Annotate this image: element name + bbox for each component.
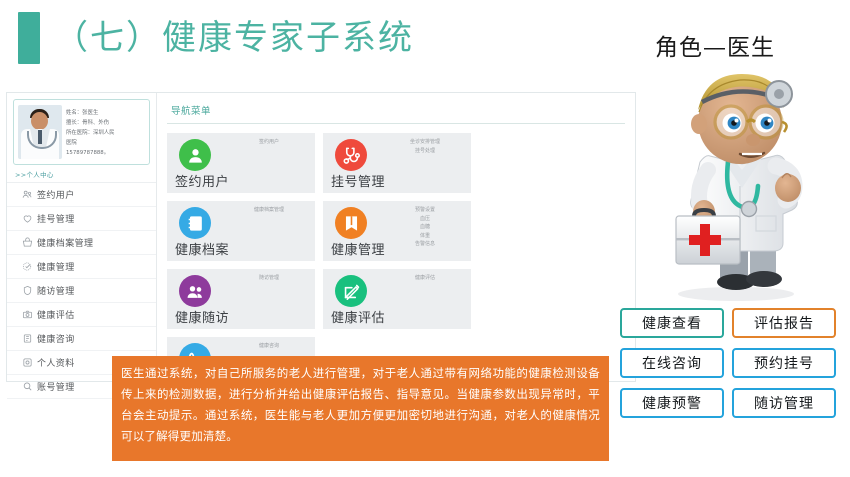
action-button-6[interactable]: 随访管理 — [732, 388, 836, 418]
profile-info: 姓名：张医生 擅长：骨科、外伤 所在医院：深圳人民 医院 15789787888… — [62, 105, 145, 159]
title-accent-bar — [18, 12, 40, 64]
app-card-sublabel: 预警设置 — [387, 206, 463, 215]
avatar — [18, 105, 62, 159]
action-button-label: 健康预警 — [642, 393, 702, 413]
profile-card: 姓名：张医生 擅长：骨科、外伤 所在医院：深圳人民 医院 15789787888… — [13, 99, 150, 165]
sidebar-item-1[interactable]: 签约用户 — [7, 183, 156, 207]
sidebar-item-6[interactable]: 健康评估 — [7, 303, 156, 327]
app-card-title: 健康随访 — [175, 307, 229, 326]
app-card-title: 挂号管理 — [331, 171, 385, 190]
people-icon — [17, 189, 37, 200]
description-text: 医生通过系统，对自己所服务的老人进行管理，对于老人通过带有网络功能的健康检测设备… — [112, 356, 609, 461]
page-title: （七）健康专家子系统 — [18, 12, 414, 64]
action-button-label: 随访管理 — [754, 393, 814, 413]
sidebar-item-label: 健康咨询 — [37, 332, 75, 345]
sidebar-item-label: 健康管理 — [37, 260, 75, 273]
clock-icon — [17, 357, 37, 368]
app-card-6[interactable]: 健康评估健康评估 — [323, 269, 471, 329]
app-card-title: 健康评估 — [331, 307, 385, 326]
app-card-sublabel: 体重 — [387, 232, 463, 241]
app-card-sublabel: 告警信息 — [387, 240, 463, 249]
app-card-3[interactable]: 健康档案管理健康档案 — [167, 201, 315, 261]
sidebar-item-label: 健康评估 — [37, 308, 75, 321]
action-button-label: 在线咨询 — [642, 353, 702, 373]
app-card-sublabels: 健康咨询 — [231, 342, 307, 351]
book-icon — [335, 207, 367, 239]
profile-hospital-2: 医院 — [66, 138, 145, 148]
check-circle-icon — [17, 261, 37, 272]
sidebar: 姓名：张医生 擅长：骨科、外伤 所在医院：深圳人民 医院 15789787888… — [7, 93, 157, 381]
sidebar-item-label: 个人资料 — [37, 356, 75, 369]
sidebar-item-label: 随访管理 — [37, 284, 75, 297]
profile-specialty: 擅长：骨科、外伤 — [66, 118, 145, 128]
sidebar-item-7[interactable]: 健康咨询 — [7, 327, 156, 351]
sidebar-item-4[interactable]: 健康管理 — [7, 255, 156, 279]
basket-icon — [17, 237, 37, 248]
sidebar-item-label: 挂号管理 — [37, 212, 75, 225]
action-button-5[interactable]: 健康预警 — [620, 388, 724, 418]
sidebar-item-3[interactable]: 健康档案管理 — [7, 231, 156, 255]
sidebar-item-2[interactable]: 挂号管理 — [7, 207, 156, 231]
app-card-sublabel: 健康档案管理 — [231, 206, 307, 215]
cartoon-doctor-illustration — [636, 66, 848, 306]
camera-icon — [17, 309, 37, 320]
search-icon — [17, 381, 37, 392]
app-card-1[interactable]: 签约用户签约用户 — [167, 133, 315, 193]
app-card-sublabel: 坐诊安排管理 — [387, 138, 463, 147]
app-card-sublabel: 健康评估 — [387, 274, 463, 283]
action-button-4[interactable]: 预约挂号 — [732, 348, 836, 378]
sidebar-item-5[interactable]: 随访管理 — [7, 279, 156, 303]
app-card-sublabel: 血压 — [387, 215, 463, 224]
personal-center-link[interactable]: >>个人中心 — [7, 165, 156, 183]
sidebar-item-label: 签约用户 — [37, 188, 75, 201]
app-card-5[interactable]: 随访管理健康随访 — [167, 269, 315, 329]
action-button-1[interactable]: 健康查看 — [620, 308, 724, 338]
app-card-sublabel: 挂号处理 — [387, 147, 463, 156]
lock-icon — [17, 333, 37, 344]
heart-icon — [17, 213, 37, 224]
main-panel: 导航菜单 签约用户签约用户坐诊安排管理挂号处理挂号管理健康档案管理健康档案预警设… — [157, 93, 635, 381]
group-icon — [179, 275, 211, 307]
profile-hospital: 所在医院：深圳人民 — [66, 128, 145, 138]
app-card-title: 健康管理 — [331, 239, 385, 258]
user-icon — [179, 139, 211, 171]
app-card-sublabels: 预警设置血压血糖体重告警信息 — [387, 206, 463, 249]
app-card-4[interactable]: 预警设置血压血糖体重告警信息健康管理 — [323, 201, 471, 261]
action-button-label: 健康查看 — [642, 313, 702, 333]
sidebar-item-label: 健康档案管理 — [37, 236, 93, 249]
app-card-sublabels: 健康评估 — [387, 274, 463, 283]
title-text: （七）健康专家子系统 — [54, 21, 414, 55]
app-card-title: 签约用户 — [175, 171, 229, 190]
app-card-sublabel: 健康咨询 — [231, 342, 307, 351]
action-button-label: 评估报告 — [754, 313, 814, 333]
role-label: 角色—医生 — [655, 28, 775, 62]
profile-name: 姓名：张医生 — [66, 108, 145, 118]
app-card-sublabels: 坐诊安排管理挂号处理 — [387, 138, 463, 155]
app-card-sublabel: 签约用户 — [231, 138, 307, 147]
sidebar-item-label: 账号管理 — [37, 380, 75, 393]
action-button-3[interactable]: 在线咨询 — [620, 348, 724, 378]
app-window: 姓名：张医生 擅长：骨科、外伤 所在医院：深圳人民 医院 15789787888… — [6, 92, 636, 382]
nav-menu-title: 导航菜单 — [167, 101, 625, 124]
app-card-sublabel: 血糖 — [387, 223, 463, 232]
contact-book-icon — [179, 207, 211, 239]
app-card-sublabels: 签约用户 — [231, 138, 307, 147]
app-card-sublabels: 健康档案管理 — [231, 206, 307, 215]
action-button-grid: 健康查看评估报告在线咨询预约挂号健康预警随访管理 — [620, 308, 842, 418]
app-card-sublabels: 随访管理 — [231, 274, 307, 283]
profile-phone: 15789787888。 — [66, 148, 145, 158]
action-button-2[interactable]: 评估报告 — [732, 308, 836, 338]
edit-icon — [335, 275, 367, 307]
app-card-title: 健康档案 — [175, 239, 229, 258]
app-card-sublabel: 随访管理 — [231, 274, 307, 283]
app-card-2[interactable]: 坐诊安排管理挂号处理挂号管理 — [323, 133, 471, 193]
stethoscope-icon — [335, 139, 367, 171]
action-button-label: 预约挂号 — [754, 353, 814, 373]
shield-icon — [17, 285, 37, 296]
